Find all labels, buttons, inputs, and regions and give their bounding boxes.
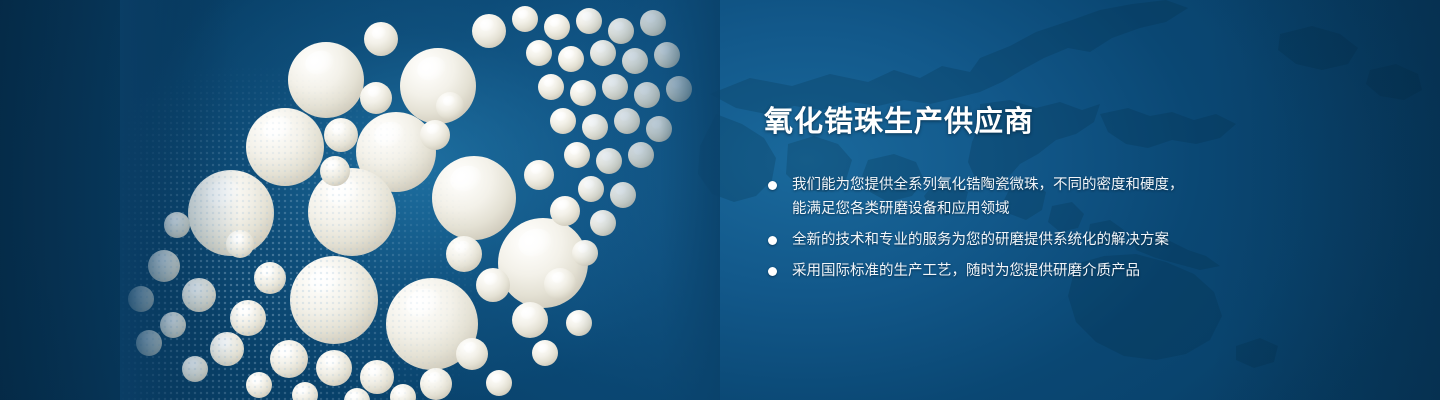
bead <box>472 14 506 48</box>
bead <box>498 218 588 308</box>
bead <box>436 92 464 120</box>
bead <box>446 236 482 272</box>
bead <box>570 80 596 106</box>
bead <box>160 312 186 338</box>
bead <box>610 182 636 208</box>
bead <box>210 332 244 366</box>
bead <box>486 370 512 396</box>
bead <box>290 256 378 344</box>
banner-copy: 氧化锆珠生产供应商 我们能为您提供全系列氧化锆陶瓷微珠，不同的密度和硬度， 能满… <box>764 104 1384 290</box>
bead <box>456 338 488 370</box>
bead <box>420 368 452 400</box>
bead <box>288 42 364 118</box>
list-item-line1: 采用国际标准的生产工艺，随时为您提供研磨介质产品 <box>792 263 1140 279</box>
bead <box>512 302 548 338</box>
bead <box>432 156 516 240</box>
bead <box>390 384 416 400</box>
list-item: 我们能为您提供全系列氧化锆陶瓷微珠，不同的密度和硬度， 能满足您各类研磨设备和应… <box>764 173 1384 221</box>
product-photo-zirconia-beads <box>120 0 720 400</box>
bead <box>128 286 154 312</box>
bead <box>582 114 608 140</box>
page-title: 氧化锆珠生产供应商 <box>764 104 1384 139</box>
bead <box>360 360 394 394</box>
bead <box>246 372 272 398</box>
bead <box>640 10 666 36</box>
bead <box>226 230 254 258</box>
bead <box>614 108 640 134</box>
bead <box>578 176 604 202</box>
bead <box>622 48 648 74</box>
bead <box>558 46 584 72</box>
bead <box>308 168 396 256</box>
bead <box>566 310 592 336</box>
bead <box>608 18 634 44</box>
bead <box>538 74 564 100</box>
bead <box>364 22 398 56</box>
bead <box>572 240 598 266</box>
bead <box>316 350 352 386</box>
bead <box>666 76 692 102</box>
bead <box>164 212 190 238</box>
bead-cluster <box>120 0 720 400</box>
bead <box>254 262 286 294</box>
list-item-line2: 能满足您各类研磨设备和应用领域 <box>792 197 1384 221</box>
bead <box>136 330 162 356</box>
bead <box>512 6 538 32</box>
bead <box>564 142 590 168</box>
bead <box>420 120 450 150</box>
bead <box>596 148 622 174</box>
bullet-dot-icon <box>768 181 777 190</box>
bead <box>360 82 392 114</box>
bullet-dot-icon <box>768 236 777 245</box>
bead <box>544 268 576 300</box>
bead <box>654 42 680 68</box>
list-item-line1: 全新的技术和专业的服务为您的研磨提供系统化的解决方案 <box>792 232 1169 248</box>
bead <box>550 108 576 134</box>
bead <box>182 356 208 382</box>
bead <box>634 82 660 108</box>
feature-list: 我们能为您提供全系列氧化锆陶瓷微珠，不同的密度和硬度， 能满足您各类研磨设备和应… <box>764 173 1384 283</box>
list-item-line1: 我们能为您提供全系列氧化锆陶瓷微珠，不同的密度和硬度， <box>792 177 1184 193</box>
bead <box>148 250 180 282</box>
bead <box>590 210 616 236</box>
bead <box>576 8 602 34</box>
bead <box>320 156 350 186</box>
bead <box>246 108 324 186</box>
bead <box>292 382 318 400</box>
list-item: 采用国际标准的生产工艺，随时为您提供研磨介质产品 <box>764 259 1384 283</box>
bead <box>550 196 580 226</box>
bead <box>270 340 308 378</box>
list-item: 全新的技术和专业的服务为您的研磨提供系统化的解决方案 <box>764 228 1384 252</box>
hero-banner: 氧化锆珠生产供应商 我们能为您提供全系列氧化锆陶瓷微珠，不同的密度和硬度， 能满… <box>0 0 1440 400</box>
bead <box>526 40 552 66</box>
bead <box>590 40 616 66</box>
bead <box>646 116 672 142</box>
bead <box>532 340 558 366</box>
bead <box>476 268 510 302</box>
bead <box>602 74 628 100</box>
bead <box>230 300 266 336</box>
bead <box>182 278 216 312</box>
bead <box>524 160 554 190</box>
bead <box>544 14 570 40</box>
bullet-dot-icon <box>768 267 777 276</box>
bead <box>324 118 358 152</box>
bead <box>628 142 654 168</box>
